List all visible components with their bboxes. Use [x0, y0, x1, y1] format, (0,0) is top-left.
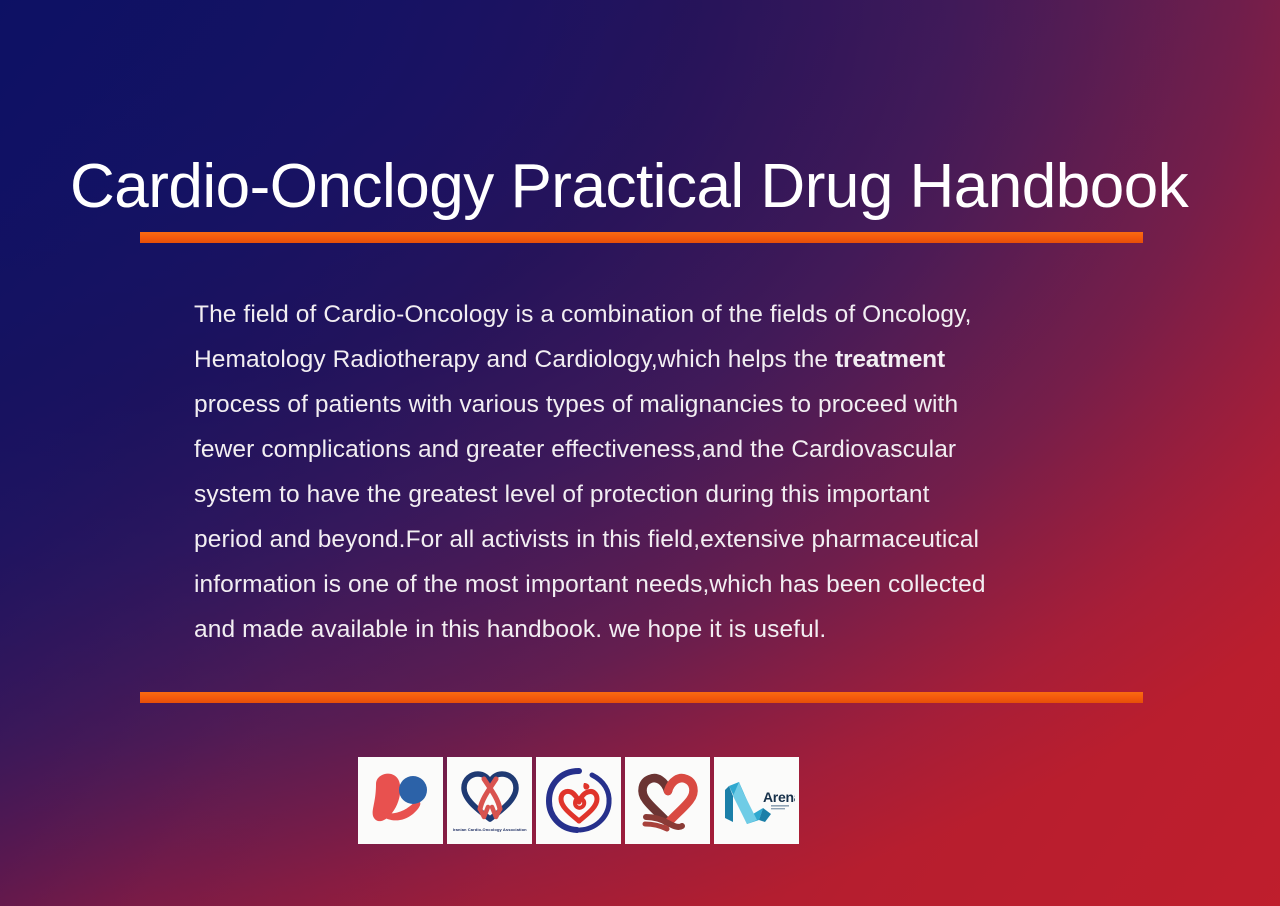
blue-brush-circle-heart-logo-icon — [544, 767, 614, 835]
logo-tile-red-heart-blue-circle — [358, 757, 443, 844]
arena-logo-icon: Arena — [714, 774, 799, 828]
body-line-3: process of patients with various types o… — [194, 382, 1094, 427]
logo-tile-iranian-cardio-oncology-association: Iranian Cardio-Oncology Association — [447, 757, 532, 844]
logo-tile-arena: Arena — [714, 757, 799, 844]
divider-top — [140, 232, 1143, 243]
logo-caption-iranian-cardio-oncology-association: Iranian Cardio-Oncology Association — [453, 827, 527, 832]
body-line-8: and made available in this handbook. we … — [194, 607, 1094, 652]
brown-red-ribbon-heart-logo-icon — [635, 769, 701, 833]
red-heart-blue-circle-logo-icon — [368, 770, 434, 832]
logo-tile-ribbon-heart — [625, 757, 710, 844]
page-title: Cardio-Onclogy Practical Drug Handbook — [70, 154, 1220, 221]
divider-bottom — [140, 692, 1143, 703]
body-line-5: system to have the greatest level of pro… — [194, 472, 1094, 517]
body-emphasis: treatment — [835, 346, 945, 373]
iranian-cardio-oncology-association-logo-icon — [458, 769, 522, 825]
logo-tile-blue-brush-circle — [536, 757, 621, 844]
body-line-2-text: Hematology Radiotherapy and Cardiology,w… — [194, 346, 835, 373]
body-line-7: information is one of the most important… — [194, 562, 1094, 607]
body-line-4: fewer complications and greater effectiv… — [194, 427, 1094, 472]
logo-row: Iranian Cardio-Oncology Association — [358, 757, 799, 844]
body-paragraph: The field of Cardio-Oncology is a combin… — [194, 292, 1094, 652]
presentation-slide: Cardio-Onclogy Practical Drug Handbook T… — [0, 0, 1280, 906]
svg-text:Arena: Arena — [763, 789, 795, 805]
body-line-2: Hematology Radiotherapy and Cardiology,w… — [194, 337, 1094, 382]
body-line-6: period and beyond.For all activists in t… — [194, 517, 1094, 562]
body-line-1: The field of Cardio-Oncology is a combin… — [194, 292, 1094, 337]
